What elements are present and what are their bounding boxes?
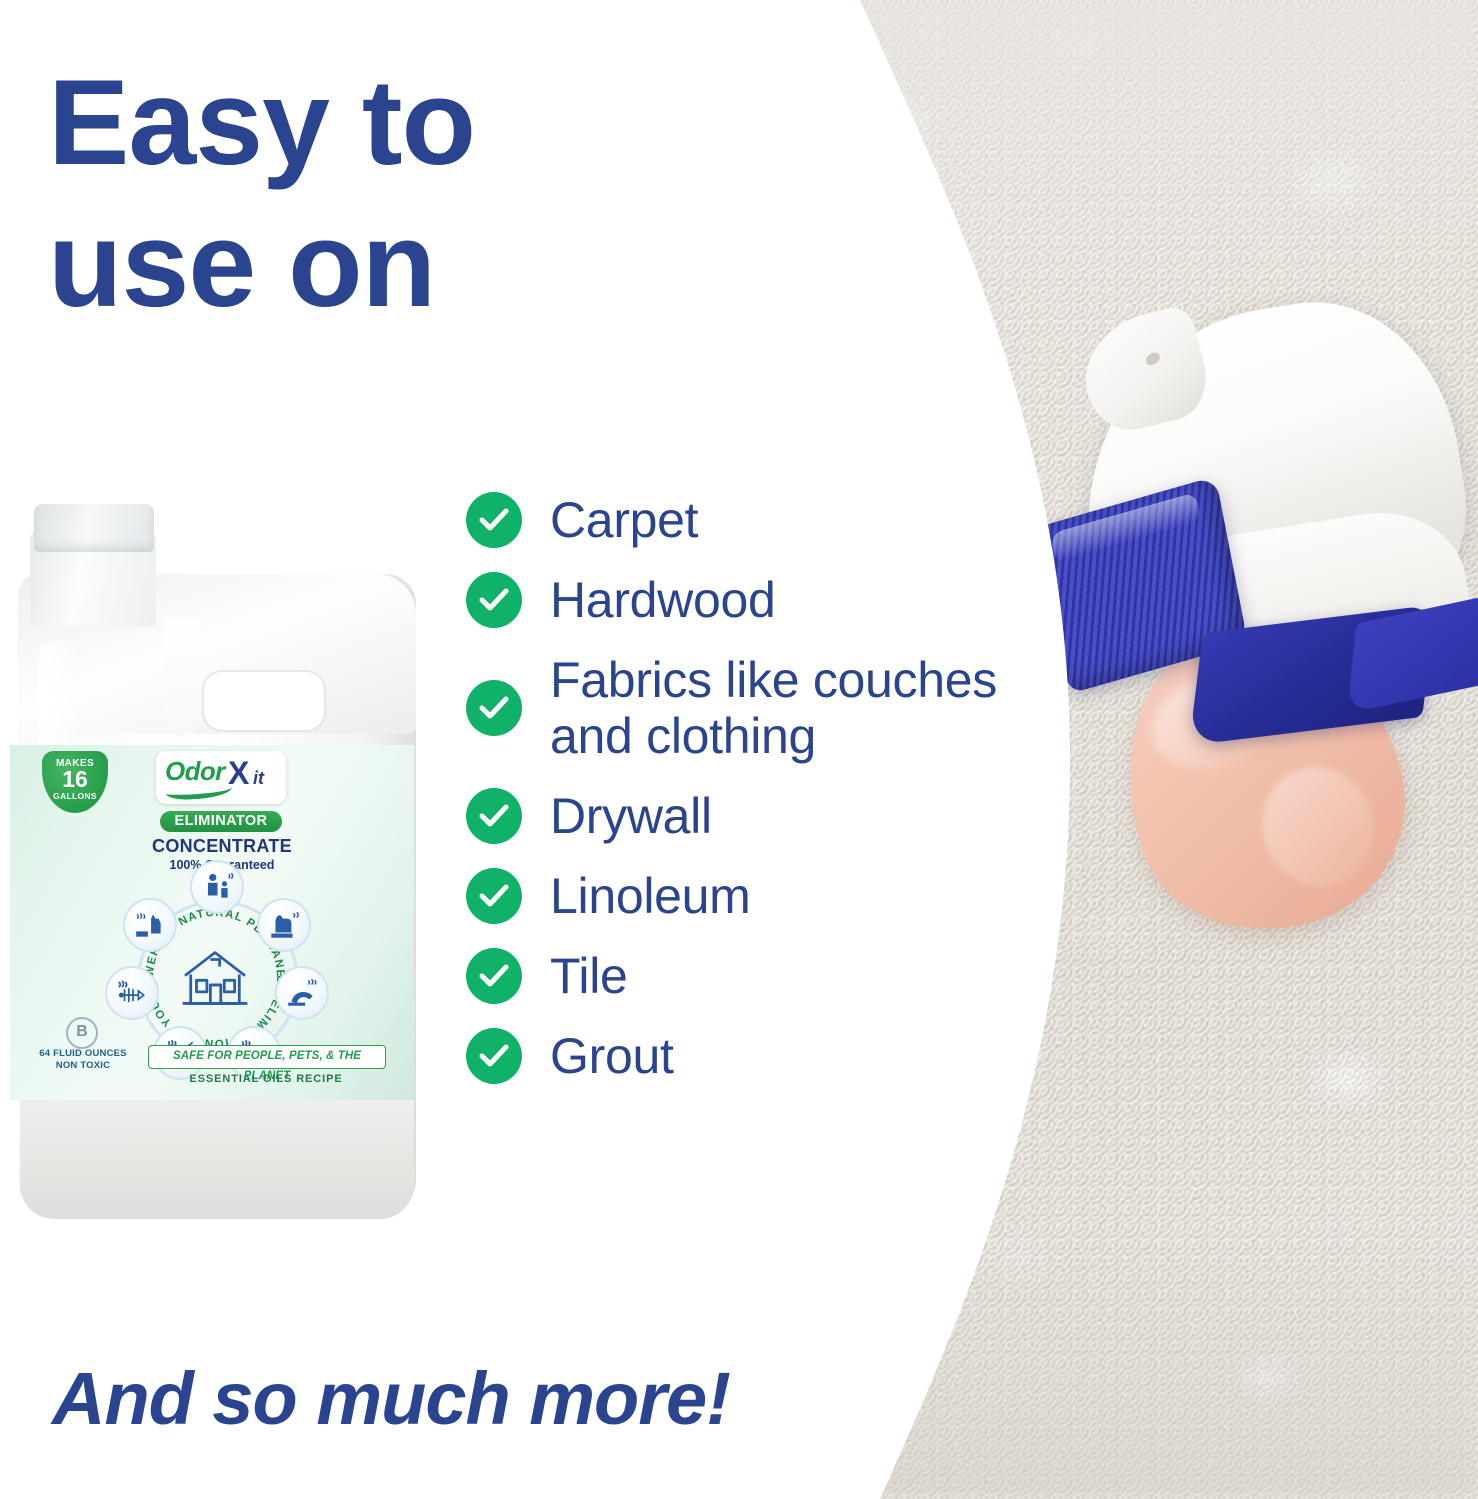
jug-cap (34, 504, 154, 552)
list-item-label: Linoleum (550, 868, 751, 924)
spray-bottle-photo (1050, 290, 1478, 970)
list-item-label: Hardwood (550, 572, 776, 628)
list-item: Tile (466, 948, 1066, 1004)
footer-tagline: And so much more! (52, 1356, 730, 1441)
makes-gallons-badge: MAKES 16 GALLONS (42, 751, 108, 813)
headline-line-1: Easy to (48, 52, 748, 194)
cat-litter-box-icon (123, 898, 177, 952)
list-item-label: Grout (550, 1028, 674, 1084)
brand-swoosh-icon (166, 780, 233, 800)
list-item-label: Tile (550, 948, 628, 1004)
brand-word-it: it (253, 768, 264, 789)
check-circle-icon (466, 680, 522, 736)
fluid-ounces-line1: 64 FLUID OUNCES (24, 1048, 142, 1060)
list-item: Drywall (466, 788, 1066, 844)
surface-checklist: Carpet Hardwood Fabrics like couches and… (466, 492, 1066, 1108)
fluid-ounces-text: 64 FLUID OUNCES NON TOXIC (24, 1048, 142, 1072)
list-item: Hardwood (466, 572, 1066, 628)
list-item: Linoleum (466, 868, 1066, 924)
fish-bones-icon (105, 966, 159, 1020)
check-circle-icon (466, 868, 522, 924)
product-marketing-image: Easy to use on MAKES 16 GALLONS Odor X i… (0, 0, 1478, 1499)
dog-icon (257, 898, 311, 952)
list-item-label: Carpet (550, 492, 698, 548)
check-circle-icon (466, 788, 522, 844)
fluid-ounces-line2: NON TOXIC (24, 1060, 142, 1072)
check-circle-icon (466, 1028, 522, 1084)
makes-badge-line2: 16 (42, 769, 108, 791)
eliminator-banner: ELIMINATOR (160, 811, 282, 832)
list-item: Grout (466, 1028, 1066, 1084)
jug-base (20, 1095, 414, 1219)
headline-line-2: use on (48, 194, 748, 336)
list-item: Fabrics like couches and clothing (466, 652, 1066, 764)
page-title: Easy to use on (48, 52, 748, 335)
skunk-icon (275, 966, 329, 1020)
list-item-label: Drywall (550, 788, 712, 844)
check-circle-icon (466, 948, 522, 1004)
jug-handle-gap (164, 618, 200, 736)
essential-oils-recipe-text: ESSENTIAL OILS RECIPE (148, 1073, 384, 1085)
list-item-label: Fabrics like couches and clothing (550, 652, 997, 764)
family-icon (190, 860, 244, 914)
jug-handle-hole (204, 672, 324, 730)
fingertip (1249, 754, 1388, 900)
cap-highlight (1051, 492, 1201, 563)
nozzle-hole (1144, 350, 1163, 368)
b-certification-logo: B (66, 1017, 98, 1049)
safe-for-people-banner: SAFE FOR PEOPLE, PETS, & THE PLANET (148, 1045, 386, 1069)
product-label: MAKES 16 GALLONS Odor X it ELIMINATOR CO… (10, 745, 414, 1100)
check-circle-icon (466, 492, 522, 548)
brand-logo: Odor X it (156, 751, 286, 804)
house-icon (167, 930, 263, 1026)
concentrate-text: CONCENTRATE (142, 836, 302, 857)
makes-badge-line3: GALLONS (42, 791, 108, 801)
product-bottle: MAKES 16 GALLONS Odor X it ELIMINATOR CO… (8, 500, 418, 1220)
list-item: Carpet (466, 492, 1066, 548)
check-circle-icon (466, 572, 522, 628)
